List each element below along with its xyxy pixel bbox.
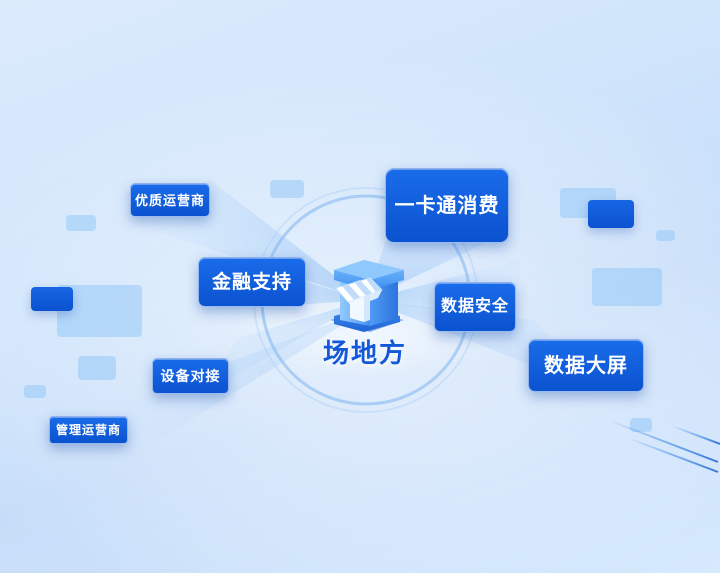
card-label: 数据安全 — [441, 299, 509, 315]
card-quality-operator[interactable]: 优质运营商 — [130, 183, 210, 217]
hero-illustration: 场地方 优质运营商 金融支持 一卡通消费 数据安全 数据大屏 设备对接 管理运营… — [0, 0, 720, 573]
card-label: 管理运营商 — [56, 424, 121, 436]
card-label: 一卡通消费 — [395, 196, 500, 216]
card-label: 数据大屏 — [544, 356, 628, 376]
card-one-card-payment[interactable]: 一卡通消费 — [385, 168, 509, 243]
page-title: 场地方 — [305, 333, 425, 370]
card-label: 金融支持 — [212, 273, 292, 292]
card-managed-operator[interactable]: 管理运营商 — [49, 416, 128, 444]
card-device-docking[interactable]: 设备对接 — [152, 358, 229, 394]
storefront-icon — [312, 248, 416, 340]
card-financial-support[interactable]: 金融支持 — [198, 257, 306, 307]
card-data-security[interactable]: 数据安全 — [434, 282, 516, 332]
card-data-dashboard[interactable]: 数据大屏 — [528, 339, 644, 392]
card-label: 设备对接 — [161, 369, 221, 383]
card-label: 优质运营商 — [135, 194, 205, 207]
